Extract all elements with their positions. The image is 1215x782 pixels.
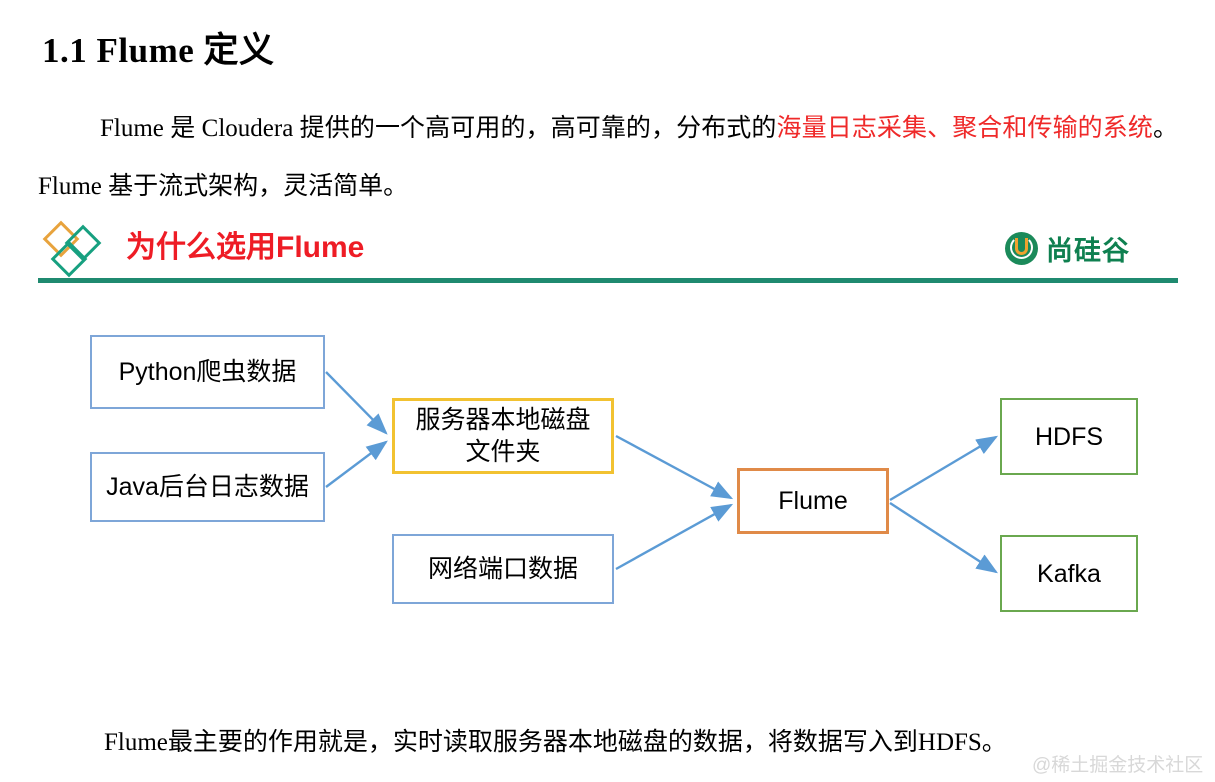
- page-title: 1.1 Flume 定义: [42, 22, 275, 73]
- node-label: 服务器本地磁盘 文件夹: [415, 404, 590, 468]
- node-label: Java后台日志数据: [106, 471, 309, 503]
- node-kafka[interactable]: Kafka: [1000, 535, 1138, 612]
- edge-flume-to-kafka: [890, 503, 996, 572]
- node-label: Python爬虫数据: [119, 356, 297, 388]
- flume-architecture-diagram: Python爬虫数据 Java后台日志数据 服务器本地磁盘 文件夹 网络端口数据…: [0, 300, 1215, 640]
- node-network-port-data[interactable]: 网络端口数据: [392, 534, 614, 604]
- edge-port-to-flume: [616, 505, 731, 569]
- node-label: 网络端口数据: [428, 553, 578, 585]
- node-label: Kafka: [1037, 558, 1101, 590]
- section-divider: [38, 278, 1178, 283]
- intro-text-part1: Flume 是 Cloudera 提供的一个高可用的，高可靠的，分布式的: [100, 115, 777, 142]
- atguigu-u-mark-icon: [1005, 232, 1038, 265]
- node-hdfs[interactable]: HDFS: [1000, 398, 1138, 475]
- intro-text-highlight: 海量日志采集、聚合和传输的系统: [777, 115, 1153, 142]
- section-title: 为什么选用Flume: [126, 222, 364, 274]
- brand-logo: 尚硅谷: [1005, 228, 1130, 268]
- edge-disk-to-flume: [616, 436, 731, 498]
- node-java-backend-log-data[interactable]: Java后台日志数据: [90, 452, 325, 522]
- node-python-crawler-data[interactable]: Python爬虫数据: [90, 335, 325, 409]
- edge-flume-to-hdfs: [890, 437, 996, 500]
- edge-java-to-disk: [326, 442, 386, 487]
- diagram-caption: Flume最主要的作用就是，实时读取服务器本地磁盘的数据，将数据写入到HDFS。: [104, 722, 1007, 758]
- watermark: @稀土掘金技术社区: [1032, 750, 1203, 777]
- node-server-local-disk-folder[interactable]: 服务器本地磁盘 文件夹: [392, 398, 614, 474]
- brand-name: 尚硅谷: [1046, 229, 1130, 268]
- edge-python-to-disk: [326, 372, 386, 433]
- intro-paragraph: Flume 是 Cloudera 提供的一个高可用的，高可靠的，分布式的海量日志…: [38, 100, 1178, 216]
- node-label: Flume: [778, 485, 847, 517]
- node-label: HDFS: [1035, 421, 1103, 453]
- diamond-logo-icon: [40, 224, 112, 276]
- node-flume[interactable]: Flume: [737, 468, 889, 534]
